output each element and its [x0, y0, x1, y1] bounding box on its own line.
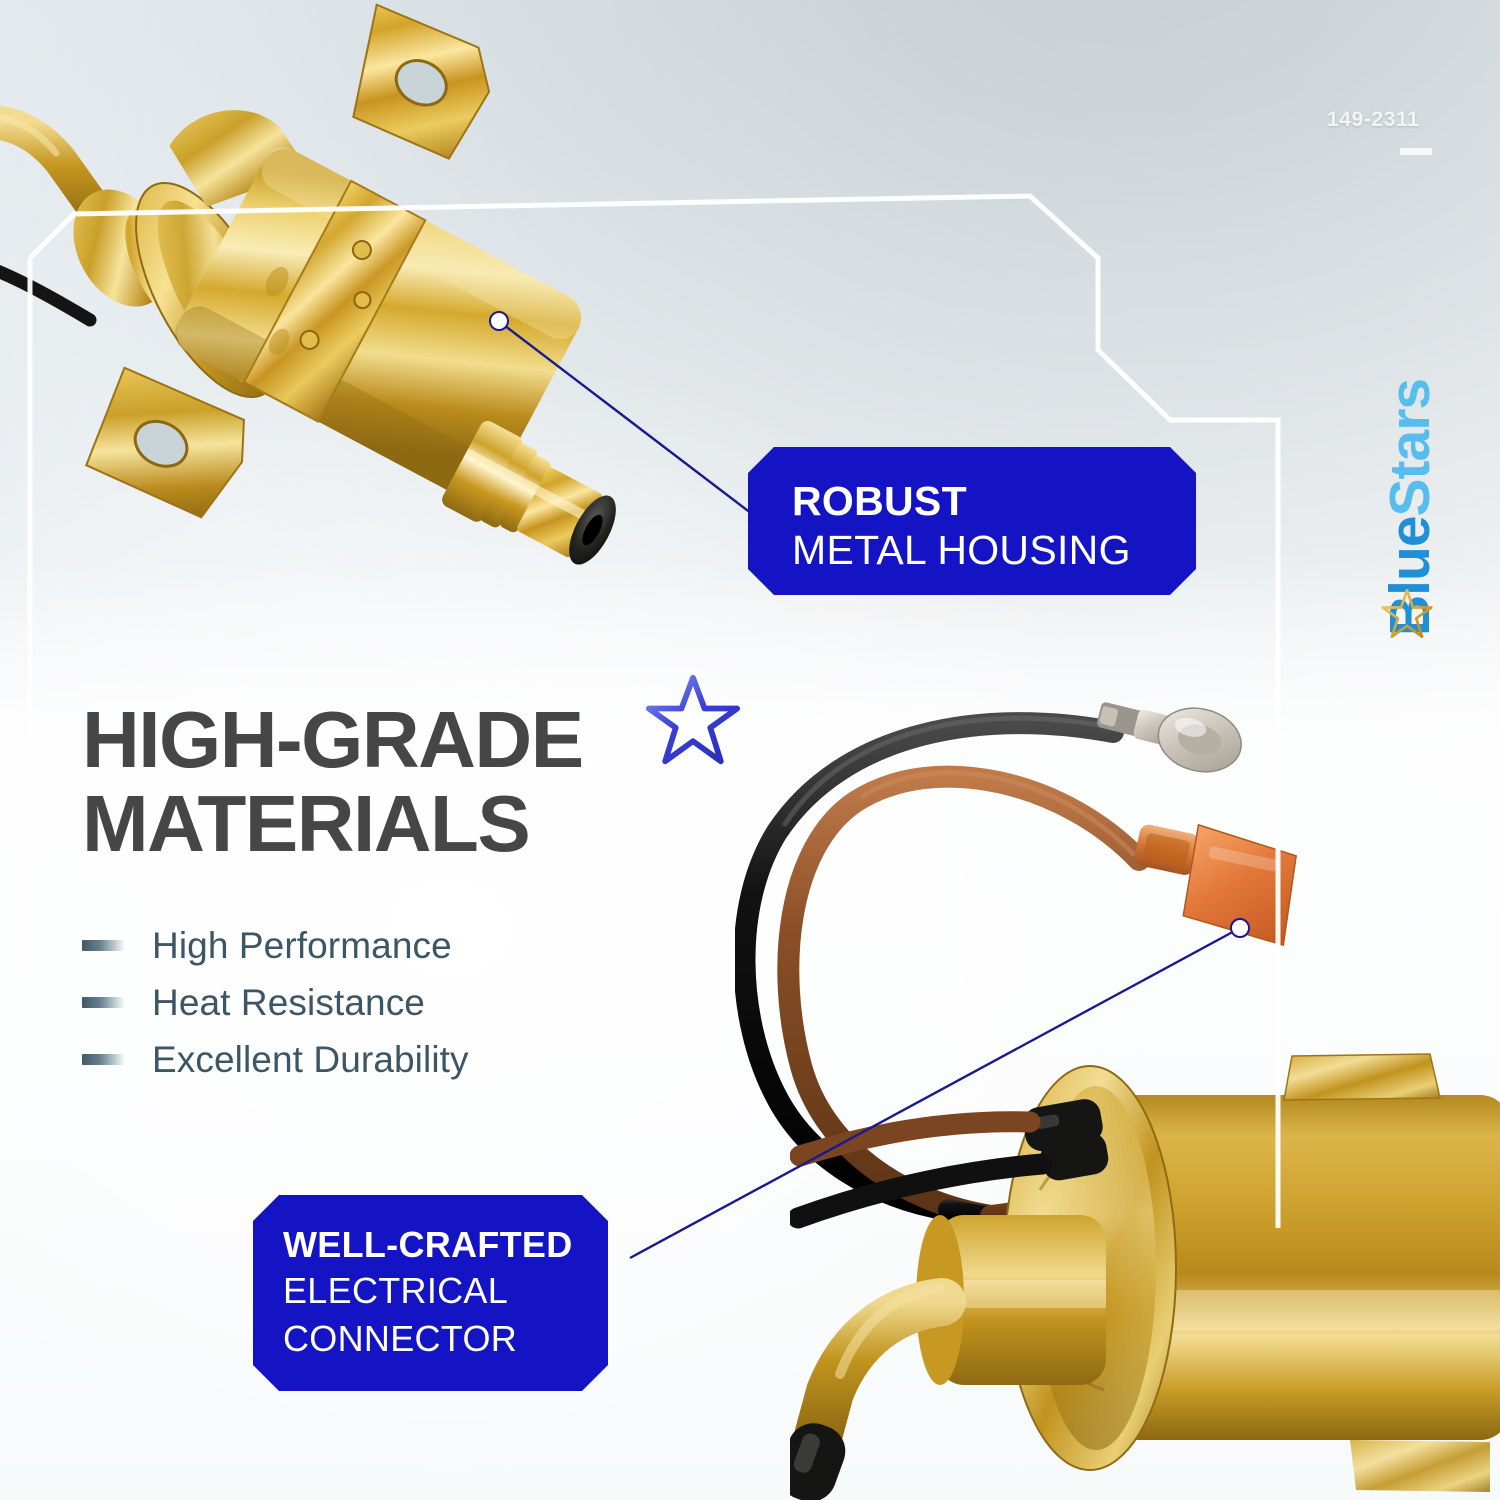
star-outline-gold-icon: [1380, 587, 1434, 641]
feature-list: High Performance Heat Resistance Excelle…: [82, 917, 469, 1088]
fuel-pump-bottom-right-image: [790, 1040, 1500, 1500]
headline-line-2: MATERIALS: [82, 784, 782, 864]
dash-marker-icon: [82, 997, 125, 1008]
infographic-canvas: 149-2311 BlueStars: [0, 0, 1500, 1500]
part-number-rule: [1400, 148, 1432, 155]
brand-logo-text: BlueStars: [1377, 276, 1443, 636]
callout-badge-robust-metal-housing: ROBUST METAL HOUSING: [748, 447, 1196, 595]
dash-marker-icon: [82, 940, 125, 951]
fuel-pump-top-left-image: [0, 0, 710, 630]
callout-subtitle: METAL HOUSING: [792, 525, 1196, 575]
brand-logo-stars: Stars: [1378, 379, 1442, 517]
part-number: 149-2311: [1327, 108, 1419, 132]
callout-dot-connector: [1230, 918, 1250, 938]
dash-marker-icon: [82, 1054, 125, 1065]
callout-title: WELL-CRAFTED: [283, 1223, 608, 1267]
feature-label: Heat Resistance: [152, 983, 425, 1023]
callout-badge-well-crafted-electrical-connector: WELL-CRAFTED ELECTRICAL CONNECTOR: [253, 1195, 608, 1391]
brand-logo: BlueStars: [1318, 255, 1498, 615]
callout-dot-housing: [489, 311, 509, 331]
list-item: High Performance: [82, 917, 469, 974]
list-item: Heat Resistance: [82, 974, 469, 1031]
page-title: HIGH-GRADE MATERIALS: [82, 700, 782, 864]
callout-subtitle: ELECTRICAL: [283, 1267, 608, 1315]
feature-label: Excellent Durability: [152, 1040, 469, 1080]
headline-line-1: HIGH-GRADE: [82, 695, 583, 784]
list-item: Excellent Durability: [82, 1031, 469, 1088]
callout-subtitle-2: CONNECTOR: [283, 1315, 608, 1363]
callout-title: ROBUST: [792, 477, 1196, 525]
feature-label: High Performance: [152, 926, 452, 966]
